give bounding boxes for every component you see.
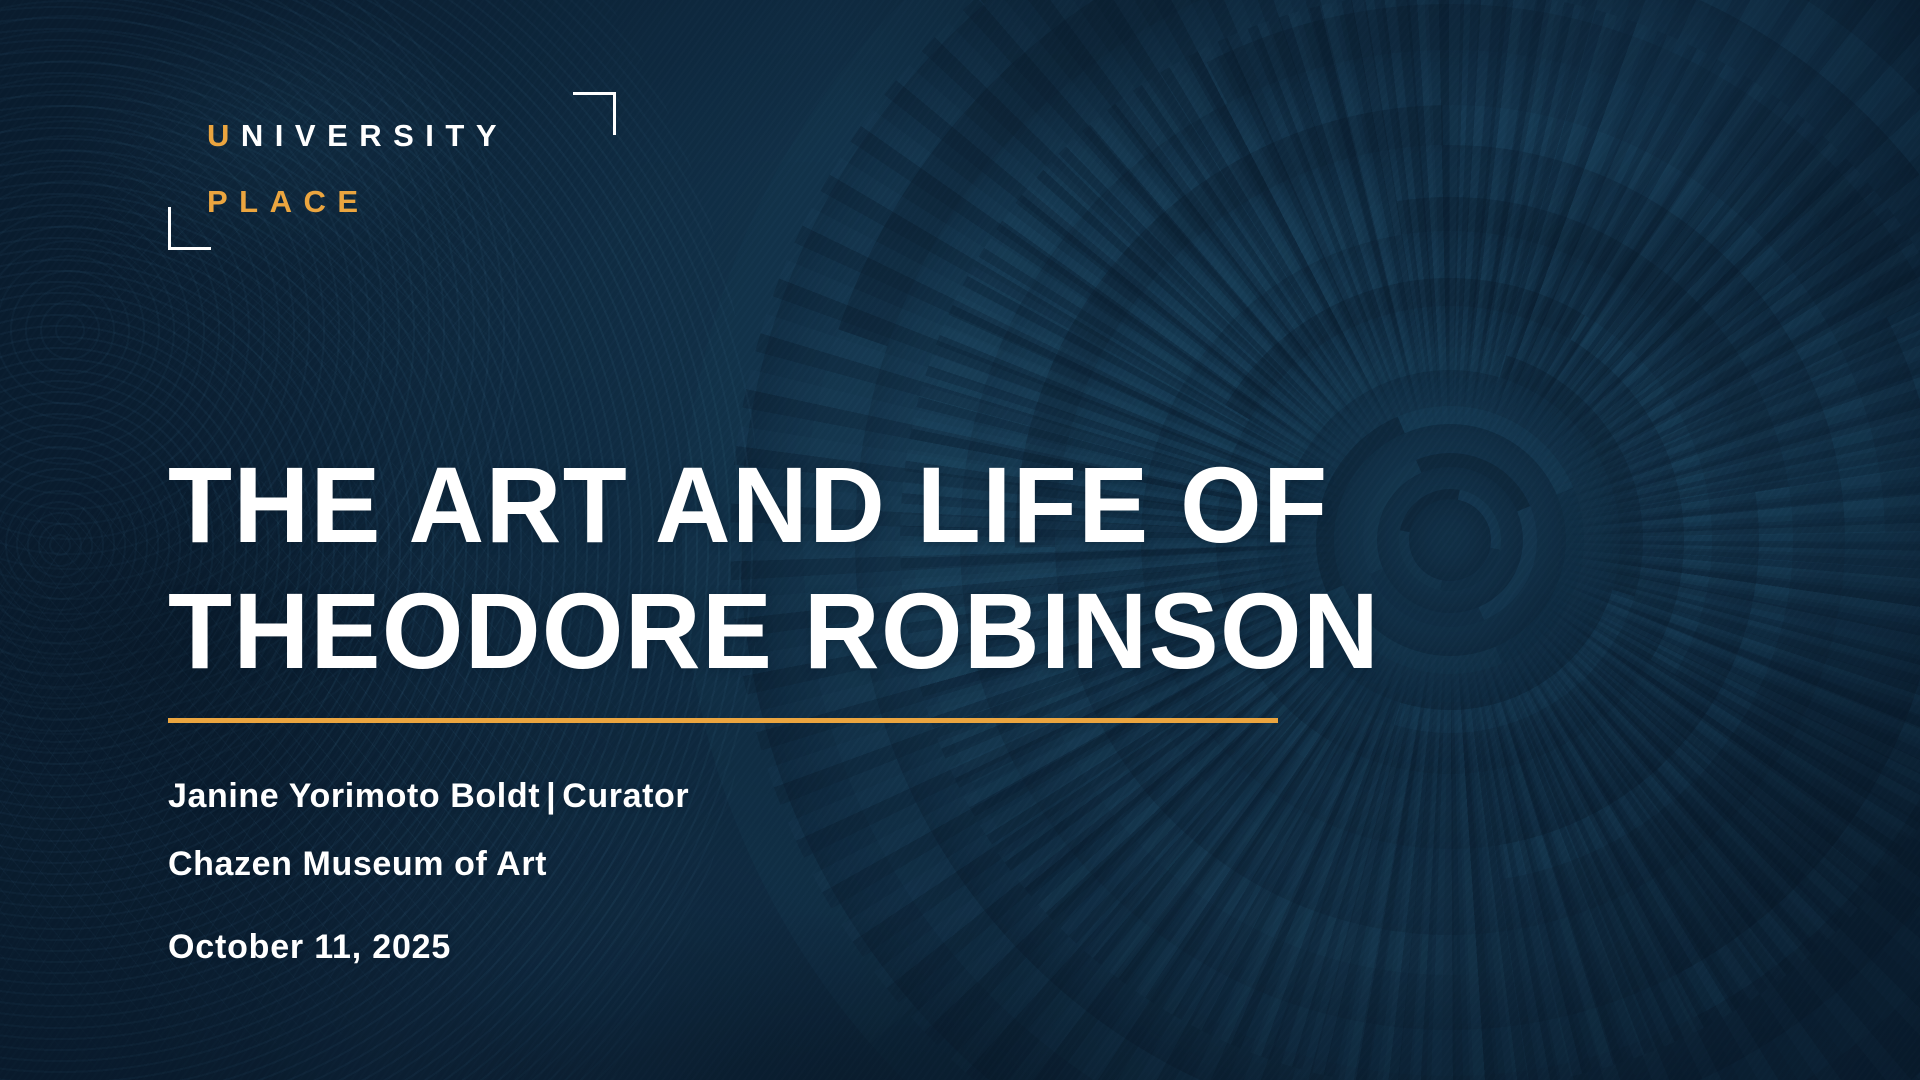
- byline-presenter-row: Janine Yorimoto Boldt|Curator: [168, 762, 689, 830]
- logo-line-university: UNIVERSITY: [207, 118, 508, 154]
- university-place-logo: UNIVERSITY PLACE: [168, 92, 610, 252]
- page-title: THE ART AND LIFE OF THEODORE ROBINSON: [168, 442, 1545, 693]
- corner-bracket-top-right-icon: [573, 92, 616, 135]
- title-line-1: THE ART AND LIFE OF: [168, 442, 1545, 567]
- gold-divider: [168, 718, 1278, 723]
- byline: Janine Yorimoto Boldt|Curator Chazen Mus…: [168, 762, 689, 898]
- title-line-2: THEODORE ROBINSON: [168, 568, 1545, 693]
- slide-content: UNIVERSITY PLACE THE ART AND LIFE OF THE…: [0, 0, 1920, 1080]
- presenter-role: Curator: [562, 777, 689, 815]
- logo-line-place: PLACE: [207, 184, 370, 220]
- title-slide: UNIVERSITY PLACE THE ART AND LIFE OF THE…: [0, 0, 1920, 1080]
- logo-university-rest: NIVERSITY: [241, 118, 508, 153]
- byline-separator: |: [540, 777, 562, 815]
- logo-initial-u: U: [207, 118, 241, 153]
- presenter-name: Janine Yorimoto Boldt: [168, 777, 540, 815]
- event-date: October 11, 2025: [168, 928, 451, 967]
- corner-bracket-bottom-left-icon: [168, 207, 211, 250]
- presenter-organization: Chazen Museum of Art: [168, 830, 689, 898]
